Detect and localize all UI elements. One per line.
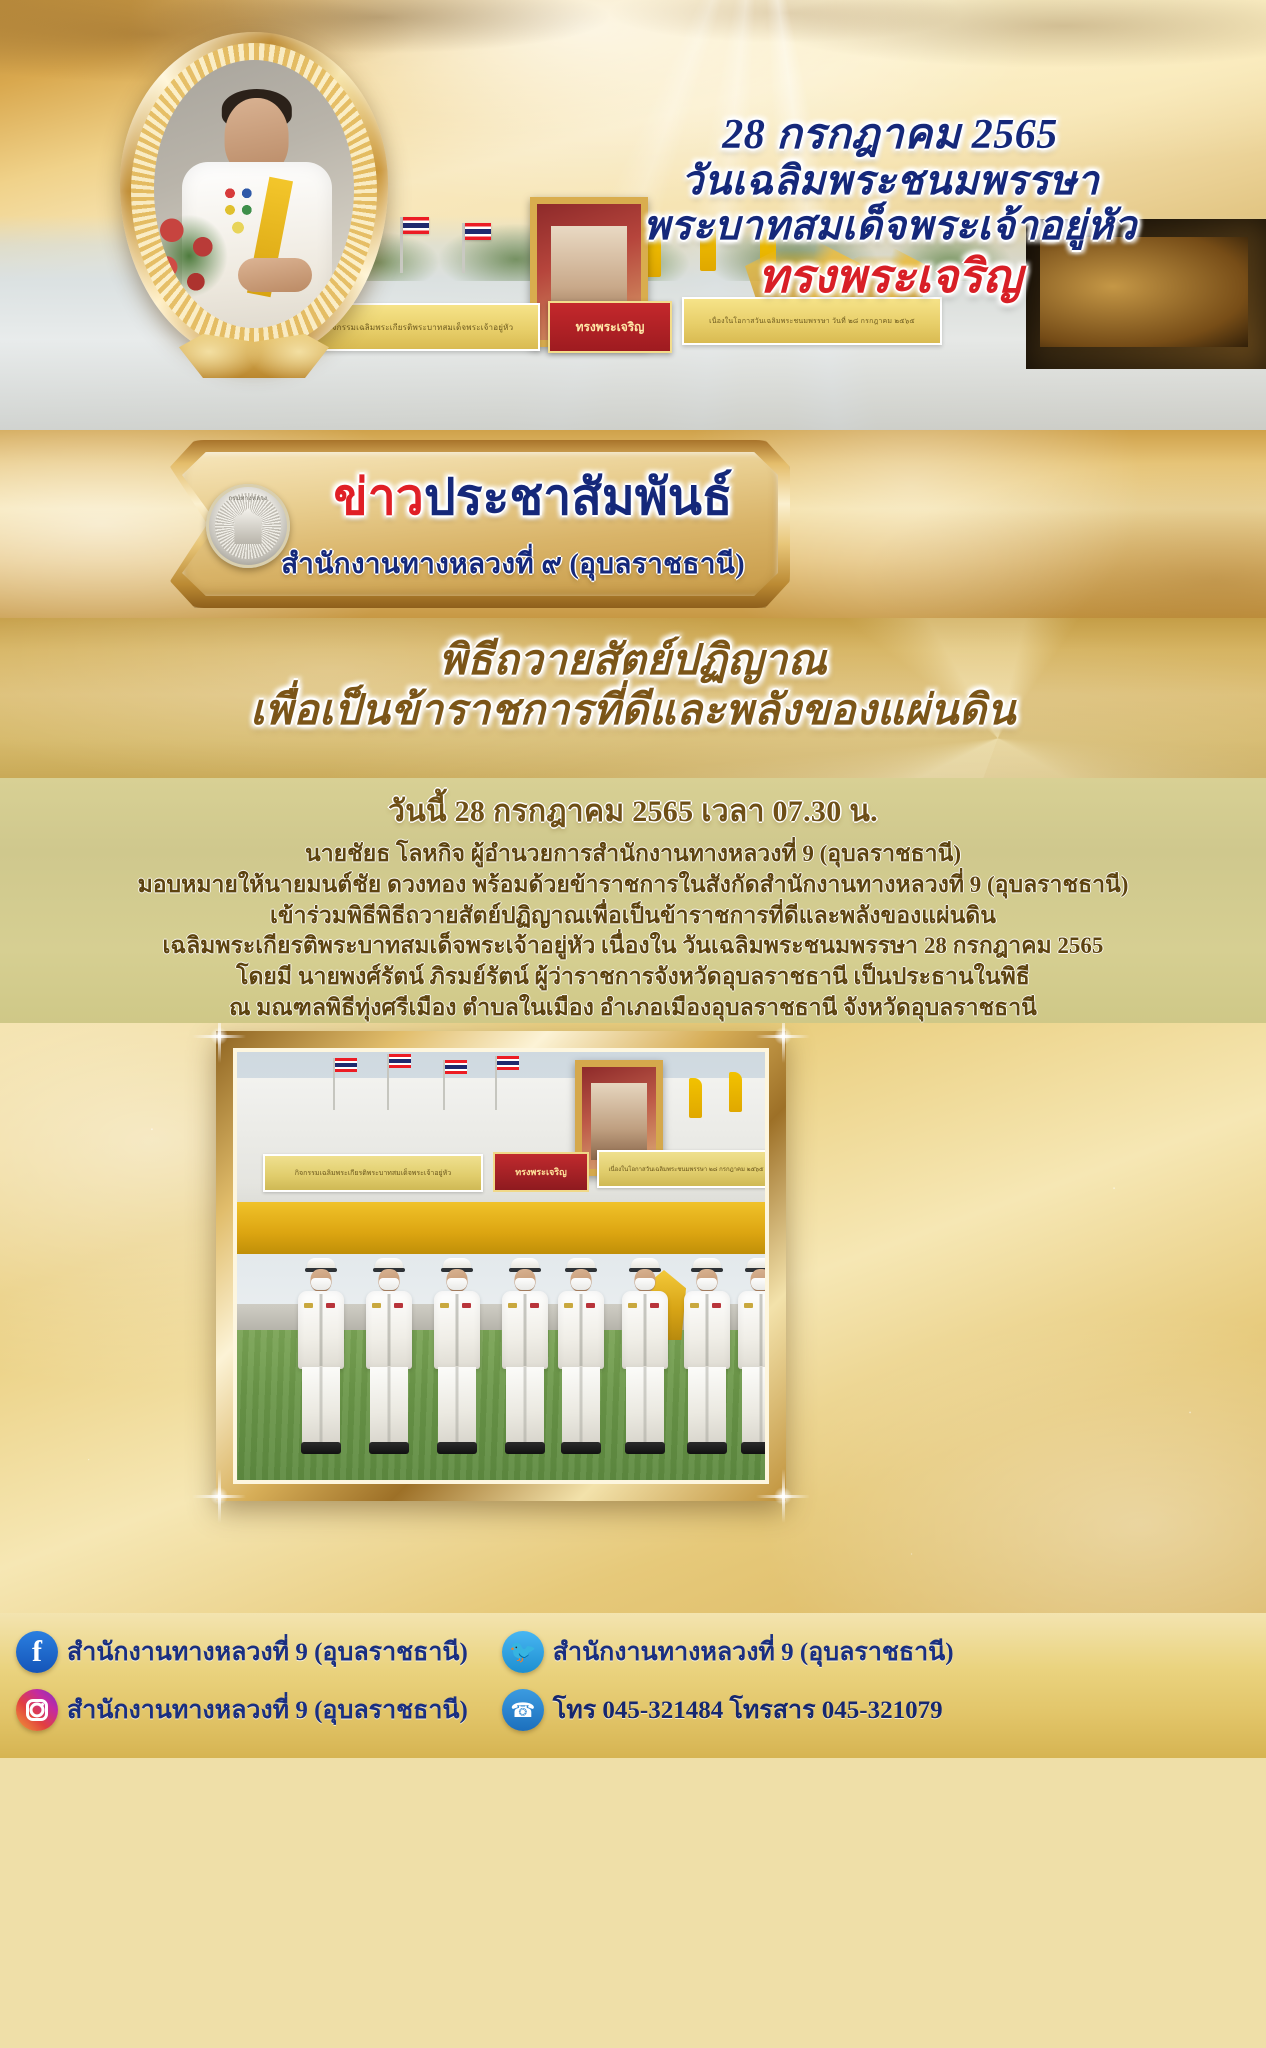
officer-trousers — [562, 1367, 600, 1443]
event-photo: กิจกรรมเฉลิมพระเกียรติพระบาทสมเด็จพระเจ้… — [233, 1048, 769, 1484]
officer-trousers — [302, 1367, 340, 1443]
officer-figure — [431, 1258, 483, 1454]
rose-bouquet — [154, 210, 232, 302]
officer-uniform — [298, 1291, 344, 1369]
thai-flag — [403, 217, 429, 234]
officer-trousers — [438, 1367, 476, 1443]
officer-uniform — [434, 1291, 480, 1369]
officer-figure — [555, 1258, 607, 1454]
officer-uniform — [558, 1291, 604, 1369]
face-mask-icon — [751, 1278, 769, 1290]
officer-uniform — [366, 1291, 412, 1369]
body-line: เฉลิมพระเกียรติพระบาทสมเด็จพระเจ้าอยู่หั… — [28, 931, 1238, 962]
twitter-contact[interactable]: 🐦 สำนักงานทางหลวงที่ 9 (อุบลราชธานี) — [502, 1631, 954, 1673]
plaque-title-news: ข่าว — [334, 469, 424, 525]
officer-trousers — [370, 1367, 408, 1443]
photo-plaque-red: ทรงพระเจริญ — [493, 1152, 589, 1192]
instagram-label: สำนักงานทางหลวงที่ 9 (อุบลราชธานี) — [67, 1690, 468, 1730]
thai-flag — [389, 1054, 411, 1068]
body-line: มอบหมายให้นายมนต์ชัย ดวงทอง พร้อมด้วยข้า… — [28, 870, 1238, 901]
officer-cap — [307, 1258, 335, 1269]
photo-yellow-drape — [237, 1202, 765, 1254]
officer-shoes — [301, 1442, 341, 1454]
officer-figure — [499, 1258, 551, 1454]
twitter-icon[interactable]: 🐦 — [502, 1631, 544, 1673]
officer-cap — [693, 1258, 721, 1269]
officer-figure — [681, 1258, 733, 1454]
officer-shoes — [741, 1442, 769, 1454]
officer-uniform — [738, 1291, 769, 1369]
officer-shoes — [687, 1442, 727, 1454]
facebook-label: สำนักงานทางหลวงที่ 9 (อุบลราชธานี) — [67, 1632, 468, 1672]
face-mask-icon — [379, 1278, 399, 1290]
officer-cap — [631, 1258, 659, 1269]
footer-row-2: สำนักงานทางหลวงที่ 9 (อุบลราชธานี) ☎ โทร… — [16, 1681, 1250, 1739]
facebook-icon[interactable]: f — [16, 1631, 58, 1673]
body-line: ณ มณฑลพิธีทุ่งศรีเมือง ตำบลในเมือง อำเภอ… — [28, 993, 1238, 1023]
yellow-royal-flag — [689, 1078, 702, 1118]
face-mask-icon — [697, 1278, 717, 1290]
facebook-contact[interactable]: f สำนักงานทางหลวงที่ 9 (อุบลราชธานี) — [16, 1631, 468, 1673]
seal-ring-label: กรมทางหลวง — [229, 493, 268, 503]
poster-root: กิจกรรมเฉลิมพระเกียรติพระบาทสมเด็จพระเจ้… — [0, 0, 1266, 2048]
thai-flag — [497, 1056, 519, 1070]
yellow-royal-flag — [729, 1072, 742, 1112]
officer-shoes — [369, 1442, 409, 1454]
seal-emblem-glyph — [228, 508, 268, 544]
plaque-subtitle: สำนักงานทางหลวงที่ ๙ (อุบลราชธานี) — [250, 542, 776, 586]
body-line: โดยมี นายพงศ์รัตน์ ภิรมย์รัตน์ ผู้ว่าราช… — [28, 962, 1238, 993]
face-mask-icon — [515, 1278, 535, 1290]
stage-banner-right: เนื่องในโอกาสวันเฉลิมพระชนมพรรษา วันที่ … — [682, 297, 942, 345]
twitter-label: สำนักงานทางหลวงที่ 9 (อุบลราชธานี) — [553, 1632, 954, 1672]
officer-figure — [295, 1258, 347, 1454]
officer-cap — [567, 1258, 595, 1269]
officer-shoes — [505, 1442, 545, 1454]
instagram-icon[interactable] — [16, 1689, 58, 1731]
plaque-title: ข่าวประชาสัมพันธ์ — [290, 472, 776, 522]
officer-trousers — [506, 1367, 544, 1443]
officer-shoes — [437, 1442, 477, 1454]
event-photo-frame: กิจกรรมเฉลิมพระเกียรติพระบาทสมเด็จพระเจ้… — [216, 1031, 786, 1501]
face-mask-icon — [635, 1278, 655, 1290]
officer-uniform — [684, 1291, 730, 1369]
portrait-hands — [238, 258, 312, 292]
phone-label: โทร 045-321484 โทรสาร 045-321079 — [553, 1690, 943, 1730]
hero-line-3: พระบาทสมเด็จพระเจ้าอยู่หัว — [530, 204, 1250, 249]
thai-flag — [465, 223, 491, 240]
footer-contact-bar: f สำนักงานทางหลวงที่ 9 (อุบลราชธานี) 🐦 ส… — [0, 1613, 1266, 1758]
instagram-contact[interactable]: สำนักงานทางหลวงที่ 9 (อุบลราชธานี) — [16, 1689, 468, 1731]
headline-block: พิธีถวายสัตย์ปฏิญาณ เพื่อเป็นข้าราชการที… — [0, 618, 1266, 737]
phone-contact[interactable]: ☎ โทร 045-321484 โทรสาร 045-321079 — [502, 1689, 943, 1731]
face-mask-icon — [571, 1278, 591, 1290]
officer-figure — [363, 1258, 415, 1454]
hero-section: กิจกรรมเฉลิมพระเกียรติพระบาทสมเด็จพระเจ้… — [0, 0, 1266, 430]
officer-trousers — [688, 1367, 726, 1443]
hero-line-2: วันเฉลิมพระชนมพรรษา — [530, 159, 1250, 204]
officer-cap — [375, 1258, 403, 1269]
officer-cap — [443, 1258, 471, 1269]
officer-cap — [747, 1258, 769, 1269]
face-mask-icon — [311, 1278, 331, 1290]
headline-line-2: เพื่อเป็นข้าราชการที่ดีและพลังของแผ่นดิน — [0, 686, 1266, 736]
hero-headline-block: 28 กรกฎาคม 2565 วันเฉลิมพระชนมพรรษา พระบ… — [530, 112, 1250, 304]
instagram-glyph — [26, 1699, 48, 1721]
hero-long-live-the-king: ทรงพระเจริญ — [530, 251, 1250, 304]
thai-flag — [335, 1058, 357, 1072]
body-line: เข้าร่วมพิธีพิธีถวายสัตย์ปฏิญาณเพื่อเป็น… — [28, 901, 1238, 932]
plaque-band: กรมทางหลวง ข่าวประชาสัมพันธ์ สำนักงานทาง… — [0, 430, 1266, 618]
phone-icon[interactable]: ☎ — [502, 1689, 544, 1731]
officer-uniform — [622, 1291, 668, 1369]
body-lead-line: วันนี้ 28 กรกฎาคม 2565 เวลา 07.30 น. — [28, 788, 1238, 835]
headline-line-1: พิธีถวายสัตย์ปฏิญาณ — [0, 636, 1266, 686]
officer-shoes — [561, 1442, 601, 1454]
photo-band: กิจกรรมเฉลิมพระเกียรติพระบาทสมเด็จพระเจ้… — [0, 1023, 1266, 1613]
stage-plaque-red: ทรงพระเจริญ — [548, 301, 672, 353]
photo-banner-right: เนื่องในโอกาสวันเฉลิมพระชนมพรรษา ๒๘ กรกฎ… — [597, 1150, 769, 1188]
hero-date: 28 กรกฎาคม 2565 — [530, 112, 1250, 159]
thai-flag — [445, 1060, 467, 1074]
king-portrait-oval — [120, 32, 388, 362]
officer-trousers — [626, 1367, 664, 1443]
officer-uniform — [502, 1291, 548, 1369]
photo-banner-left: กิจกรรมเฉลิมพระเกียรติพระบาทสมเด็จพระเจ้… — [263, 1154, 483, 1192]
king-photo — [154, 60, 354, 328]
body-text-band: วันนี้ 28 กรกฎาคม 2565 เวลา 07.30 น. นาย… — [0, 778, 1266, 1023]
face-mask-icon — [447, 1278, 467, 1290]
plaque-title-pr: ประชาสัมพันธ์ — [424, 469, 733, 525]
body-line: นายชัยธ โลหกิจ ผู้อำนวยการสำนักงานทางหลว… — [28, 839, 1238, 870]
headline-band: พิธีถวายสัตย์ปฏิญาณ เพื่อเป็นข้าราชการที… — [0, 618, 1266, 778]
officer-shoes — [625, 1442, 665, 1454]
officer-cap — [511, 1258, 539, 1269]
officer-figure — [619, 1258, 671, 1454]
footer-row-1: f สำนักงานทางหลวงที่ 9 (อุบลราชธานี) 🐦 ส… — [16, 1623, 1250, 1681]
officer-figure — [735, 1258, 769, 1454]
officer-trousers — [742, 1367, 769, 1443]
